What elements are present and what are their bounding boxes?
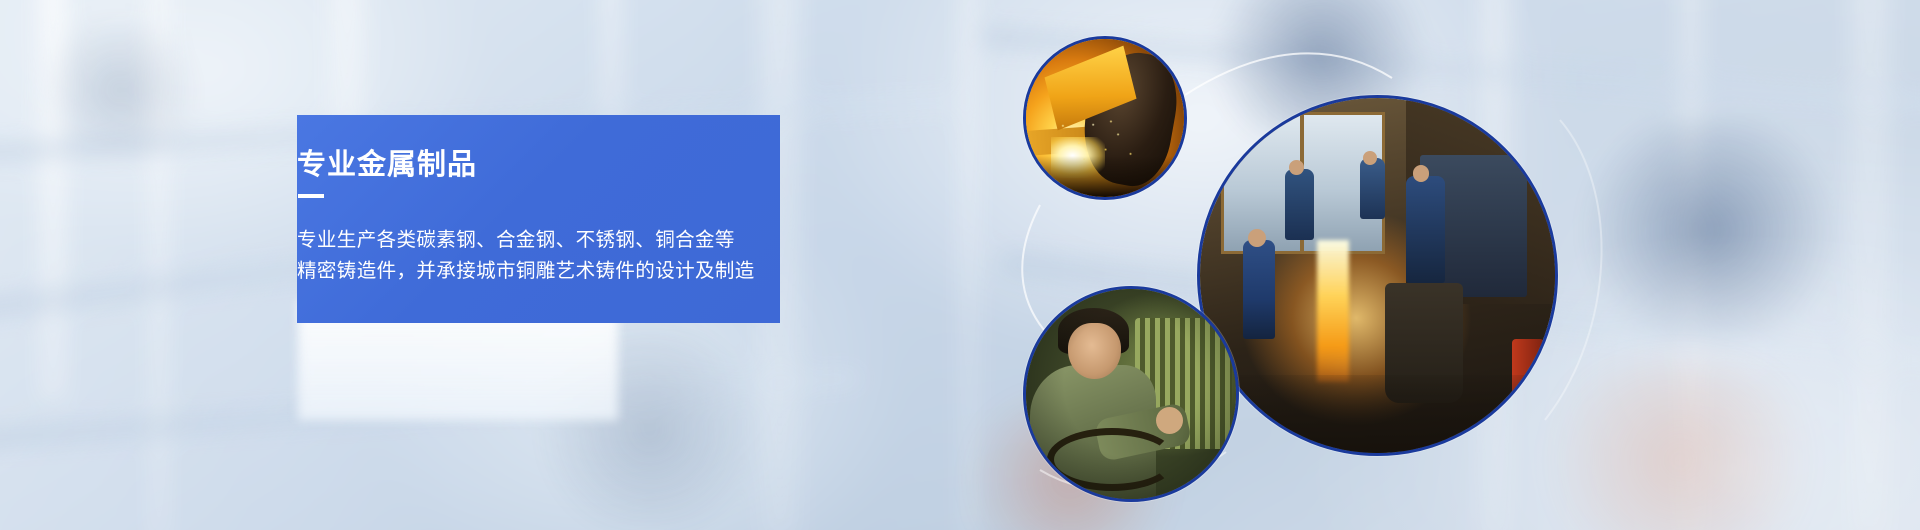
welding-sparks-illustration	[1026, 39, 1184, 197]
welding-sparks-photo	[1023, 36, 1187, 200]
hero-text-card-content: 专业金属制品 专业生产各类碳素钢、合金钢、不锈钢、铜合金等 精密铸造件，并承接城…	[297, 115, 857, 323]
foundry-pour-illustration	[1200, 98, 1555, 453]
hero-description-line-1: 专业生产各类碳素钢、合金钢、不锈钢、铜合金等	[297, 225, 755, 256]
hero-description-line-2: 精密铸造件，并承接城市铜雕艺术铸件的设计及制造	[297, 256, 755, 287]
machining-worker-photo	[1023, 286, 1239, 502]
page-title: 专业金属制品	[297, 141, 477, 183]
title-divider-rule	[298, 194, 324, 198]
connector-arcs	[0, 0, 1920, 530]
hero-description: 专业生产各类碳素钢、合金钢、不锈钢、铜合金等 精密铸造件，并承接城市铜雕艺术铸件…	[297, 225, 755, 287]
machining-worker-illustration	[1026, 289, 1236, 499]
hero-banner: 专业金属制品 专业生产各类碳素钢、合金钢、不锈钢、铜合金等 精密铸造件，并承接城…	[0, 0, 1920, 530]
foundry-pour-photo	[1197, 95, 1558, 456]
